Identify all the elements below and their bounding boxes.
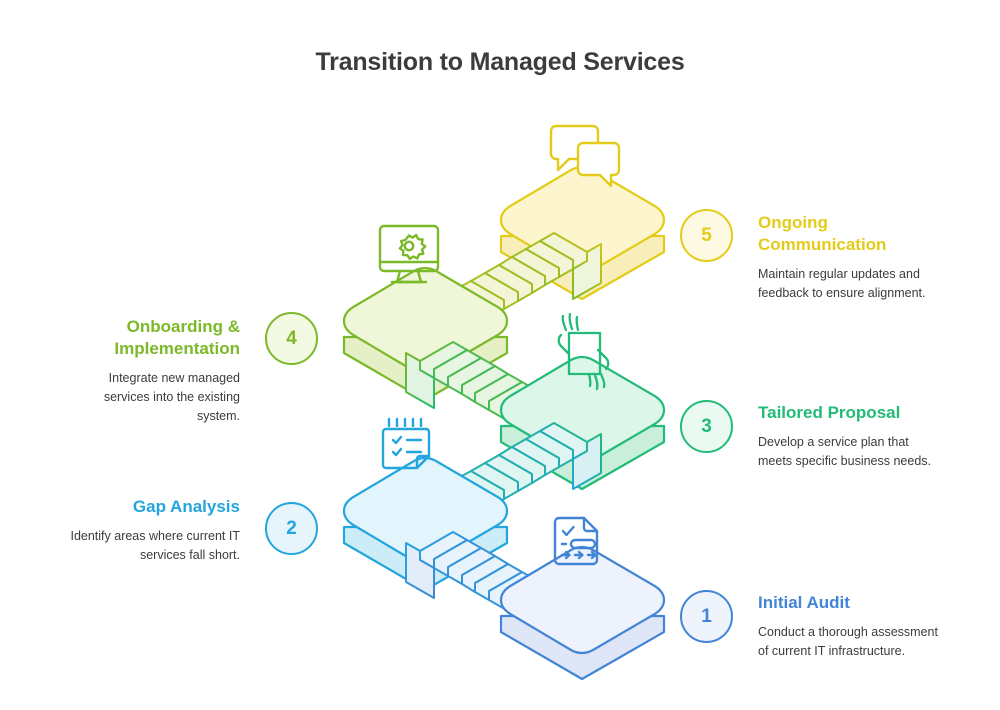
step-badge-1: 1 [680,590,733,643]
step-badge-2: 2 [265,502,318,555]
step-description-5: Maintain regular updates and feedback to… [758,265,938,303]
platform-step-1 [501,547,664,679]
step-title-1: Initial Audit [758,592,938,614]
step-title-4: Onboarding & Implementation [62,316,240,360]
step-block-3: Tailored Proposal Develop a service plan… [758,402,938,471]
step-badge-3: 3 [680,400,733,453]
step-description-1: Conduct a thorough assessment of current… [758,623,938,661]
step-block-5: Ongoing Communication Maintain regular u… [758,212,938,303]
step-badge-5: 5 [680,209,733,262]
step-block-2: Gap Analysis Identify areas where curren… [62,496,240,565]
step-description-2: Identify areas where current IT services… [62,527,240,565]
step-number-5: 5 [701,225,712,247]
step-title-5: Ongoing Communication [758,212,938,256]
illustration-stage: 5 Ongoing Communication Maintain regular… [0,0,1000,710]
step-number-4: 4 [286,328,297,350]
step-description-3: Develop a service plan that meets specif… [758,433,938,471]
step-badge-4: 4 [265,312,318,365]
step-block-4: Onboarding & Implementation Integrate ne… [62,316,240,426]
step-number-2: 2 [286,518,297,540]
step-number-1: 1 [701,606,712,628]
step-block-1: Initial Audit Conduct a thorough assessm… [758,592,938,661]
step-description-4: Integrate new managed services into the … [62,369,240,426]
step-title-2: Gap Analysis [62,496,240,518]
step-title-3: Tailored Proposal [758,402,938,424]
step-number-3: 3 [701,416,712,438]
